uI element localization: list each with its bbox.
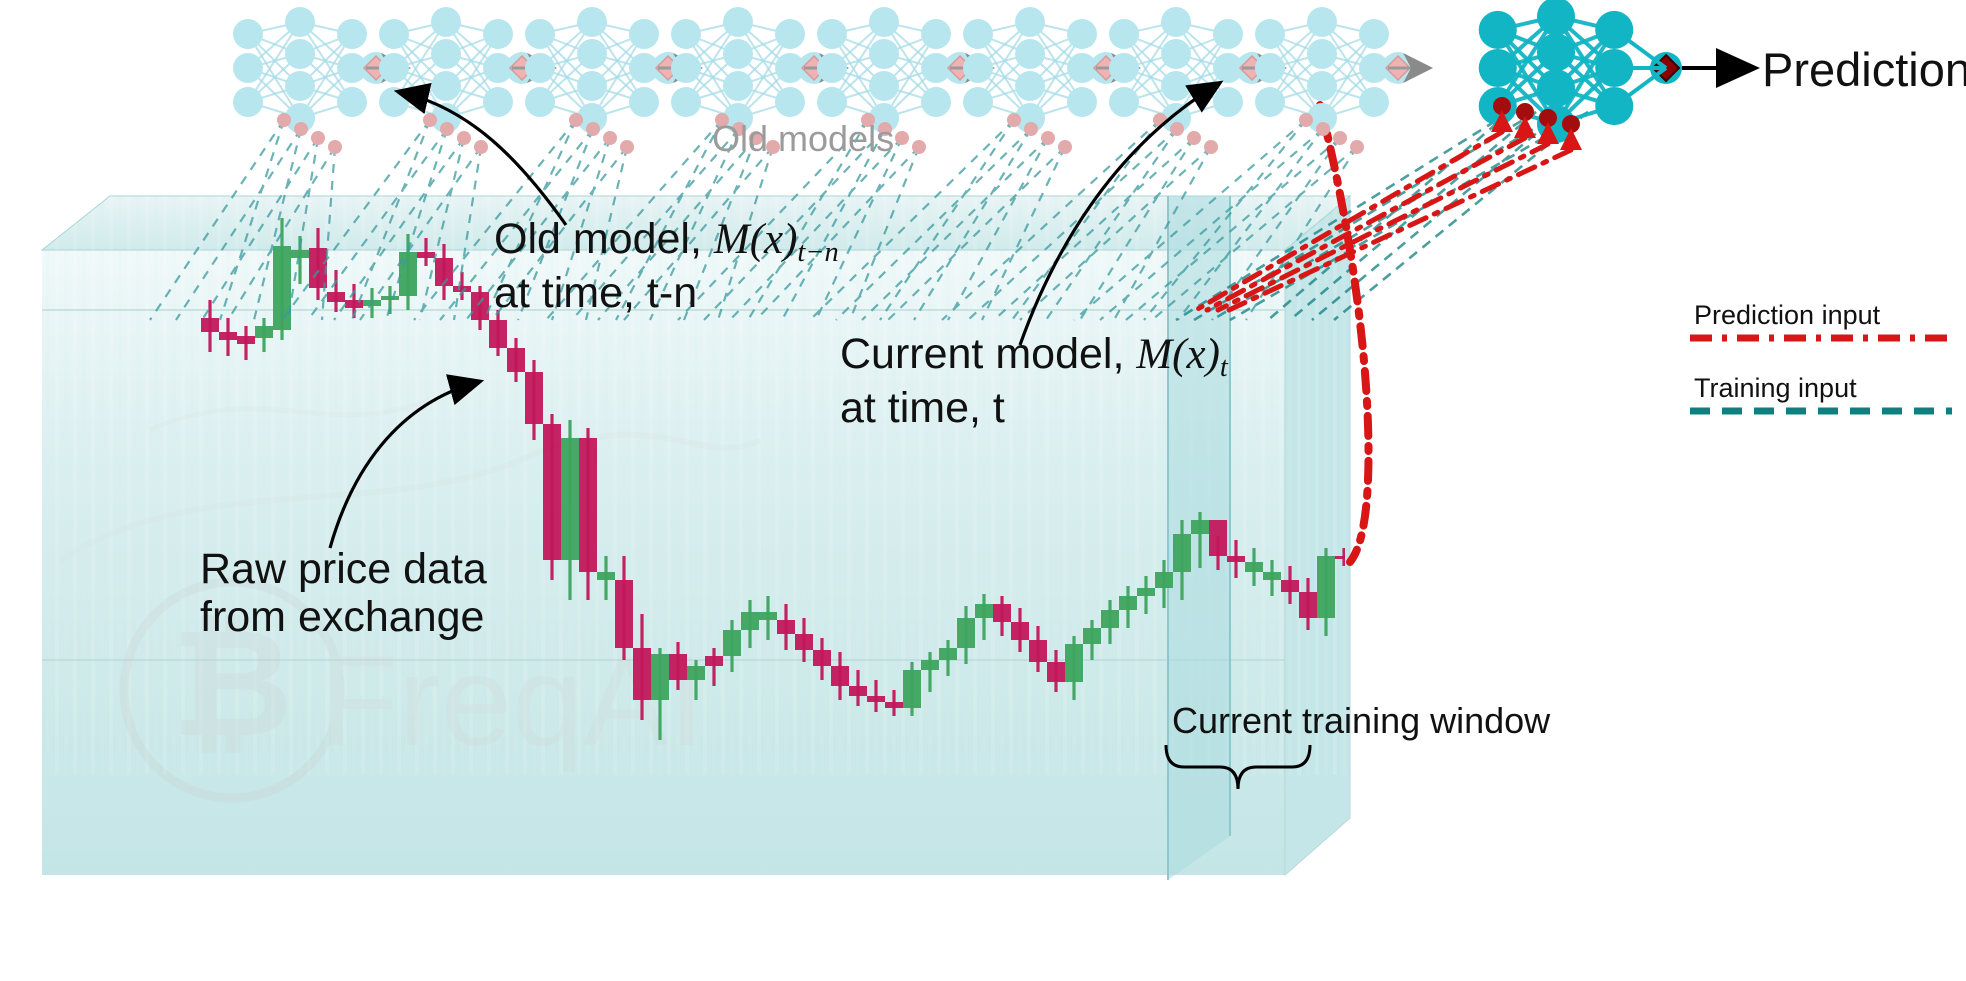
raw-price-callout-arrow[interactable] (330, 382, 478, 548)
old-model-annotation-line2: at time, t-n (494, 269, 697, 317)
legend-swatch-prediction-input (1688, 331, 1954, 345)
raw-price-annotation: Raw price data from exchange (200, 545, 487, 641)
prediction-label: Prediction (1762, 42, 1966, 97)
current-model-callout-arrow[interactable] (1020, 84, 1218, 345)
legend-swatch-training-input (1688, 404, 1954, 418)
old-model-annotation: Old model, M(x)t−n at time, t-n (494, 215, 839, 317)
training-window-brace (1166, 745, 1310, 789)
legend-item-training-input: Training input (1688, 373, 1958, 418)
legend-label-training-input: Training input (1688, 373, 1958, 404)
diagram-canvas: ₿ FreqAI (0, 0, 1966, 981)
current-model-annotation-line1: Current model, M(x)t (840, 330, 1228, 378)
current-model-annotation: Current model, M(x)t at time, t (840, 330, 1228, 432)
legend: Prediction input Training input (1688, 300, 1958, 418)
legend-label-prediction-input: Prediction input (1688, 300, 1958, 331)
annotation-arrows-layer (0, 0, 1966, 981)
current-model-subscript: t (1220, 352, 1228, 383)
legend-item-prediction-input: Prediction input (1688, 300, 1958, 345)
old-models-label: Old models (712, 118, 894, 160)
raw-price-annotation-line1: Raw price data (200, 545, 487, 593)
old-model-math: M(x) (714, 216, 798, 263)
old-model-subscript: t−n (797, 237, 838, 268)
current-model-math: M(x) (1136, 331, 1220, 378)
current-training-window-label: Current training window (1172, 700, 1550, 742)
old-model-annotation-line1: Old model, M(x)t−n (494, 215, 839, 263)
raw-price-annotation-line2: from exchange (200, 593, 484, 641)
old-model-callout-arrow[interactable] (400, 92, 566, 225)
current-model-annotation-line2: at time, t (840, 384, 1005, 432)
